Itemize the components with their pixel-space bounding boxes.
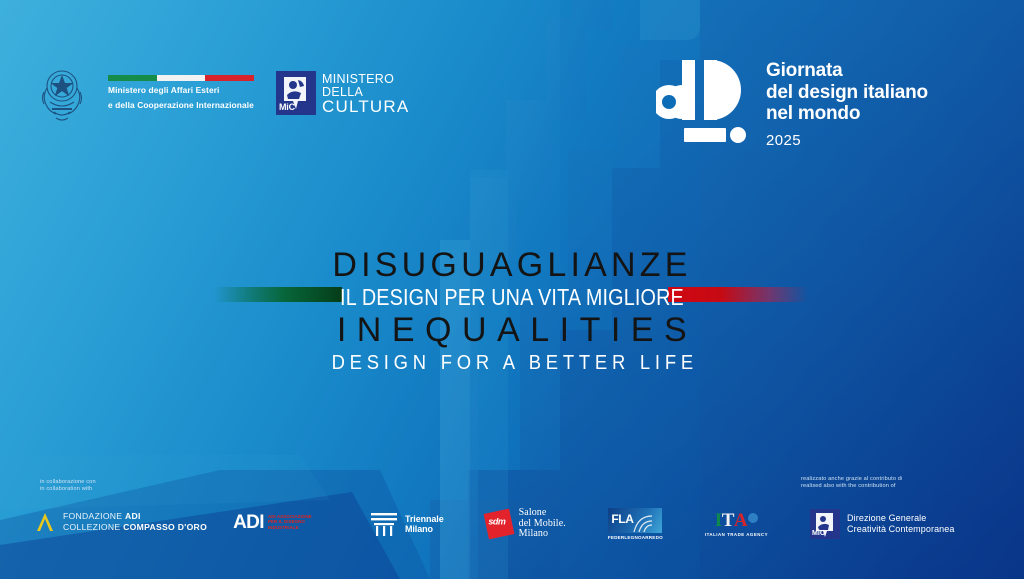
ministry-of-culture-logo: MiC MINISTERO DELLA CULTURA [276,71,409,115]
dd-monogram-icon [656,52,748,146]
subtitle-italian: IL DESIGN PER UNA VITA MIGLIORE [72,284,953,310]
collaboration-note-en: in collaboration with [40,486,96,493]
partner-logos-left: FONDAZIONE ADI COLLEZIONE COMPASSO D'ORO… [34,511,312,533]
brand-text: Giornata del design italiano nel mondo 2… [766,52,928,150]
ita-letter-t: T [722,512,734,530]
triennale-milano-logo: Triennale Milano [370,511,444,537]
title-italian: DISUGUAGLIANZE [0,246,1024,284]
compasso-doro-icon [34,511,56,533]
flag-white [157,75,206,81]
government-logos: Ministero degli Affari Esteri e della Co… [38,62,409,124]
collaboration-note-it: in collaborazione con [40,479,96,486]
salone-icon: sdm [483,509,514,540]
ministry-name-line-2: e della Cooperazione Internazionale [108,100,254,111]
triennale-wordmark: Triennale Milano [405,514,444,535]
adi-logo: ADI ADI ASSOCIAZIONE PER IL DISEGNO INDU… [233,513,312,532]
triennale-line-2: Milano [405,524,444,535]
mic-word-cultura: CULTURA [322,98,409,115]
ita-letter-i: I [715,512,722,530]
mic-word-ministero: MINISTERO [322,73,409,86]
subtitle-english: DESIGN FOR A BETTER LIFE [41,350,983,376]
title-block: DISUGUAGLIANZE IL DESIGN PER UNA VITA MI… [0,246,1024,376]
triennale-icon [370,511,398,537]
giornata-design-italiano-logo: Giornata del design italiano nel mondo 2… [656,52,928,150]
contribution-note: realizzato anche grazie al contributo di… [801,476,902,491]
partner-logos-right: Triennale Milano sdm Salone del Mobile. … [370,508,955,540]
ministry-name-line-1: Ministero degli Affari Esteri [108,85,254,96]
fondazione-adi-logo: FONDAZIONE ADI COLLEZIONE COMPASSO D'ORO [34,511,207,533]
adi-tagline-3: INDUSTRIALE [268,525,312,530]
flag-green [108,75,157,81]
salone-icon-letters: sdm [488,516,505,526]
dgc-wordmark: Direzione Generale Creatività Contempora… [847,513,954,535]
federlegnoarredo-logo: FLA FEDERLEGNOARREDO [608,508,663,540]
ministry-of-culture-wordmark: MINISTERO DELLA CULTURA [322,73,409,115]
salone-wordmark: Salone del Mobile. Milano [519,508,566,540]
brand-line-2: del design italiano [766,82,928,104]
contribution-note-en: realised also with the contribution of [801,483,902,490]
fondazione-adi-wordmark: FONDAZIONE ADI COLLEZIONE COMPASSO D'ORO [63,511,207,533]
ita-caption: ITALIAN TRADE AGENCY [705,532,768,537]
brand-line-1: Giornata [766,60,928,82]
fondazione-adi-line-2: COLLEZIONE COMPASSO D'ORO [63,522,207,533]
adi-tagline: ADI ASSOCIAZIONE PER IL DISEGNO INDUSTRI… [268,514,312,530]
fla-caption: FEDERLEGNOARREDO [608,535,663,540]
adi-wordmark: ADI [233,513,264,532]
italian-trade-agency-logo: I T A ITALIAN TRADE AGENCY [705,512,768,537]
dgc-mic-tag: MiC [812,530,825,537]
foreign-ministry-logo: Ministero degli Affari Esteri e della Co… [108,75,254,111]
ita-letter-a: A [734,512,747,530]
fondazione-adi-line-1: FONDAZIONE ADI [63,511,207,522]
salone-line-3: Milano [519,529,566,540]
title-english: INEQUALITIES [0,310,1024,350]
ita-dot-icon [748,513,758,523]
mic-emblem-icon: MiC [276,71,316,115]
contribution-note-it: realizzato anche grazie al contributo di [801,476,902,483]
collaboration-note: in collaborazione con in collaboration w… [40,479,96,494]
brand-year: 2025 [766,132,928,150]
salone-del-mobile-logo: sdm Salone del Mobile. Milano [486,508,566,540]
mic-emblem-small-icon: MiC [810,509,840,539]
dgc-line-1: Direzione Generale [847,513,954,524]
italian-flag-bar [108,75,254,81]
direzione-generale-creativita-logo: MiC Direzione Generale Creatività Contem… [810,509,954,539]
dgc-line-2: Creatività Contemporanea [847,524,954,535]
mic-tag-label: MiC [279,102,295,112]
fla-icon: FLA [608,508,662,533]
republic-of-italy-emblem-icon [38,62,86,124]
poster-canvas: Ministero degli Affari Esteri e della Co… [0,0,1024,579]
triennale-line-1: Triennale [405,514,444,525]
ita-wordmark: I T A [715,512,758,530]
brand-line-3: nel mondo [766,103,928,125]
flag-red [205,75,254,81]
